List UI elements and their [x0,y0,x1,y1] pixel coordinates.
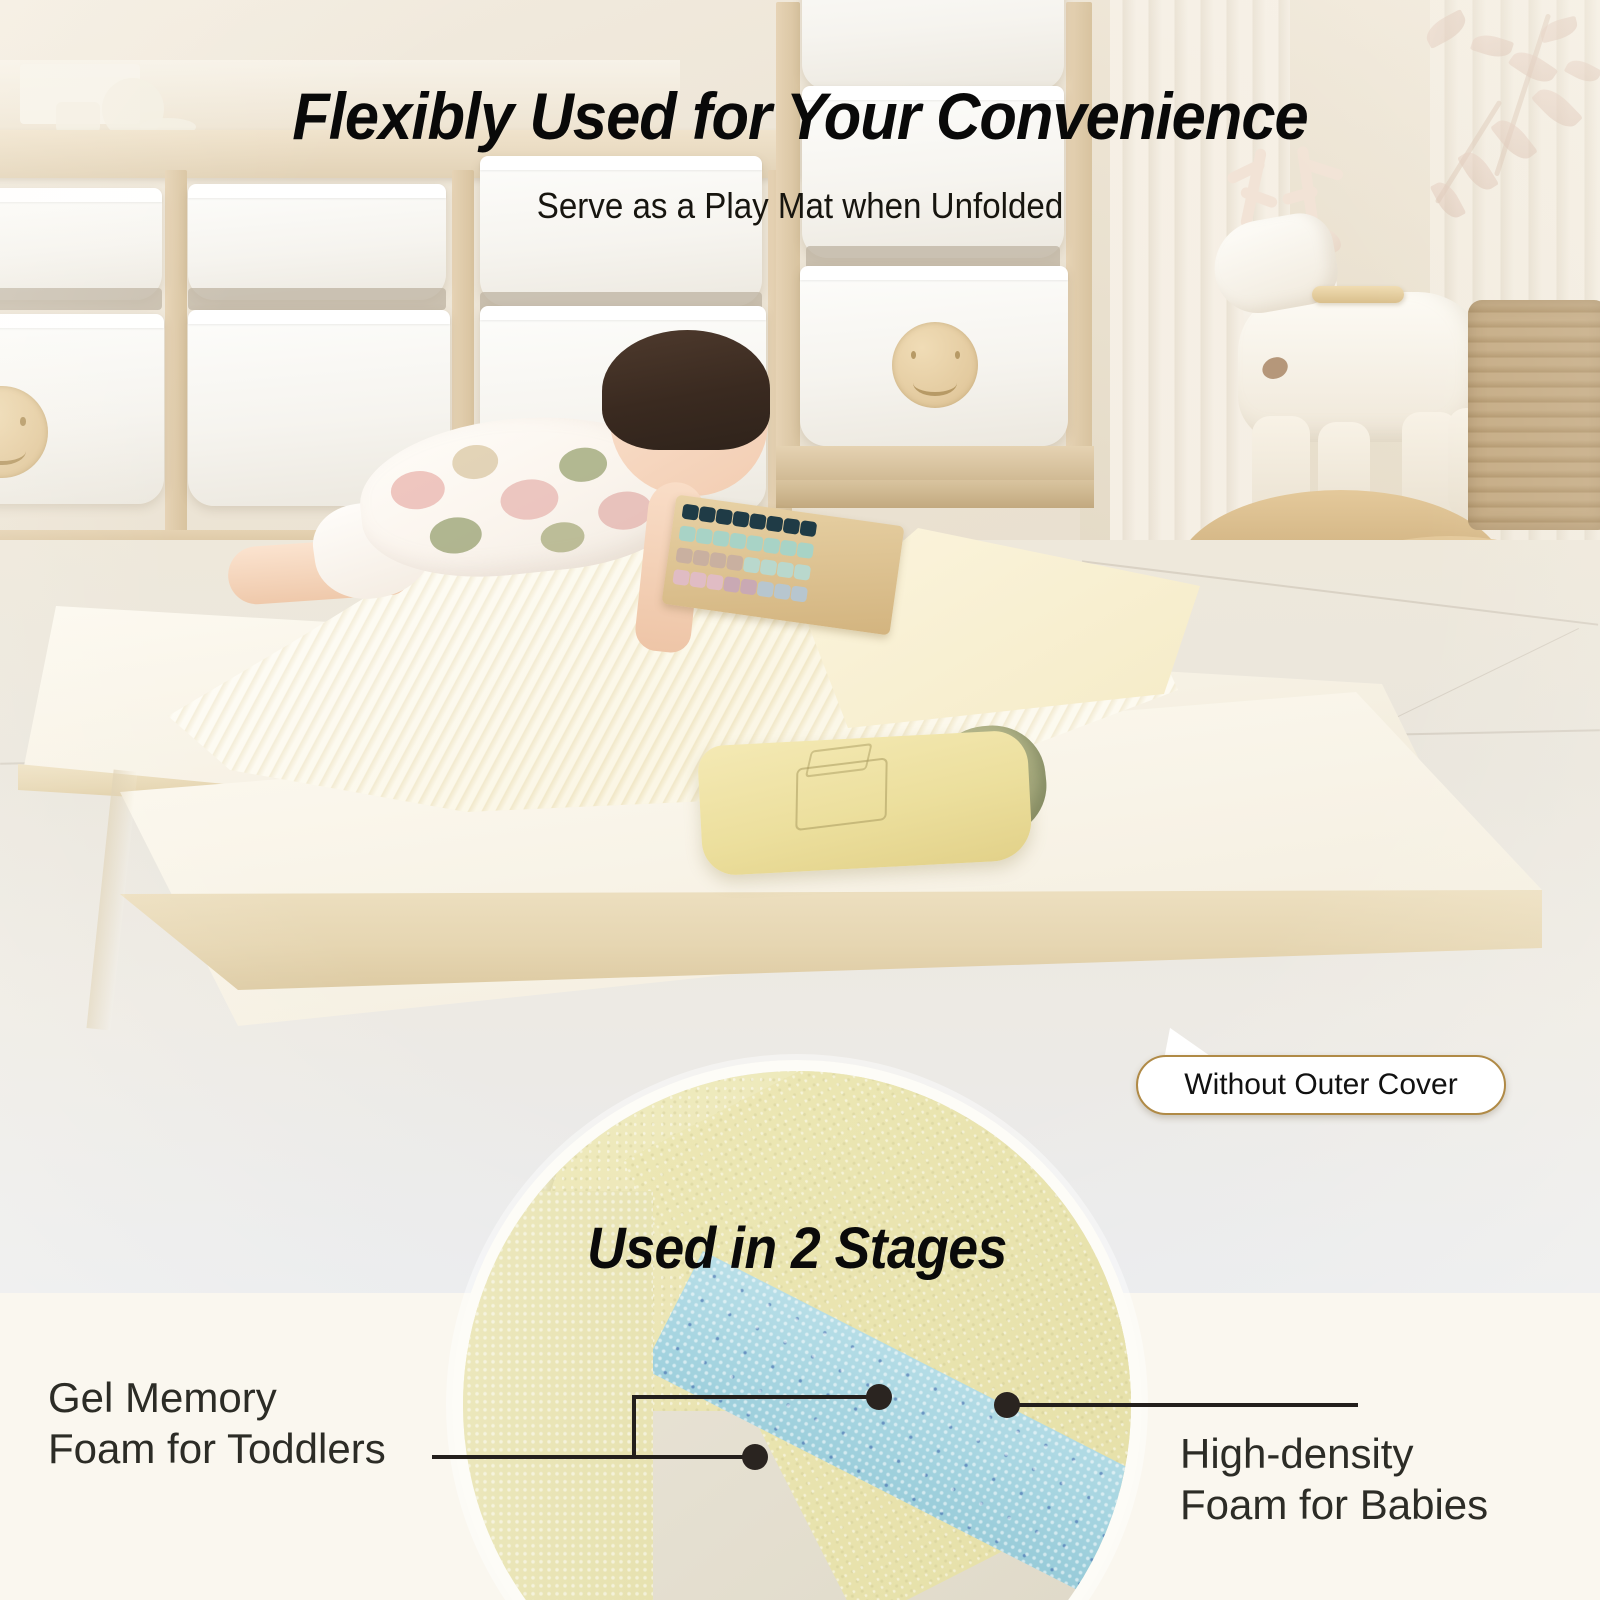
bead [709,552,727,569]
page-title: Flexibly Used for Your Convenience [56,78,1544,154]
bead [726,554,744,571]
bead [729,532,747,549]
foam-photo [452,1060,1142,1600]
callout-label: Without Outer Cover [1184,1068,1457,1102]
bin-lip [480,306,766,320]
bin-lip [0,314,164,328]
yellow-pillow [697,729,1033,876]
bead [706,574,724,591]
bead [773,583,791,600]
bead [760,559,778,576]
foam-cross-section-inset [452,1060,1142,1600]
shelf-post-4 [776,2,800,502]
bead [749,513,767,530]
label-high-density-foam: High-density Foam for Babies [1180,1428,1488,1530]
bead [790,585,808,602]
bin-lip [480,156,762,170]
bead [743,557,761,574]
baby-hair [602,330,770,450]
bead [712,530,730,547]
bead [766,515,784,532]
bead [689,571,707,588]
bead [698,506,716,523]
floral-pattern [499,477,561,523]
shelf-post-5 [1066,2,1092,502]
inset-title: Used in 2 Stages [480,1215,1115,1282]
bead [692,550,710,567]
bead [678,525,696,542]
storage-bin [800,266,1068,446]
bead [779,540,797,557]
label-line-1: Gel Memory [48,1372,386,1423]
bead [695,528,713,545]
bead [732,511,750,528]
bead [796,542,814,559]
floral-pattern [557,445,608,484]
floral-pattern [428,515,483,556]
bead [763,537,781,554]
bead [776,561,794,578]
bead [799,520,817,537]
leader-line-left-horizontal [432,1455,764,1459]
bead [783,518,801,535]
bead [793,564,811,581]
floral-pattern [389,468,447,511]
storage-bin [802,0,1064,90]
label-line-1: High-density [1180,1428,1488,1479]
wooden-smiley-face-icon [0,386,48,478]
wooden-smiley-face-icon [892,322,978,408]
bead [681,504,699,521]
deer-handle-bar [1312,286,1404,303]
leader-dot-gel-foam-upper [866,1384,892,1410]
bin-interior-shadow [188,288,446,310]
without-outer-cover-badge: Without Outer Cover [1136,1055,1506,1115]
bead [723,576,741,593]
label-line-2: Foam for Babies [1180,1479,1488,1530]
bin-interior-shadow [0,288,162,310]
floral-pattern [539,520,586,554]
leader-line-right [1010,1403,1358,1407]
woven-basket [1468,300,1600,530]
bead [740,578,758,595]
bead [756,581,774,598]
bead [675,547,693,564]
bead [672,569,690,586]
bead [746,535,764,552]
label-line-2: Foam for Toddlers [48,1423,386,1474]
floral-pattern [451,443,500,482]
bin-lip [800,266,1068,280]
leader-dot-high-density-foam [994,1392,1020,1418]
leader-line-left-riser [632,1395,636,1457]
label-gel-memory-foam: Gel Memory Foam for Toddlers [48,1372,386,1474]
storage-bin [480,156,762,306]
product-infographic: Flexibly Used for Your Convenience Serve… [0,0,1600,1600]
bead [715,508,733,525]
page-subtitle: Serve as a Play Mat when Unfolded [64,185,1536,227]
leader-line-left-upper [632,1395,884,1399]
storage-bin [0,314,164,504]
shelf-base-plinth [776,480,1094,508]
leader-dot-gel-foam-lower [742,1444,768,1470]
bin-lip [188,310,450,324]
